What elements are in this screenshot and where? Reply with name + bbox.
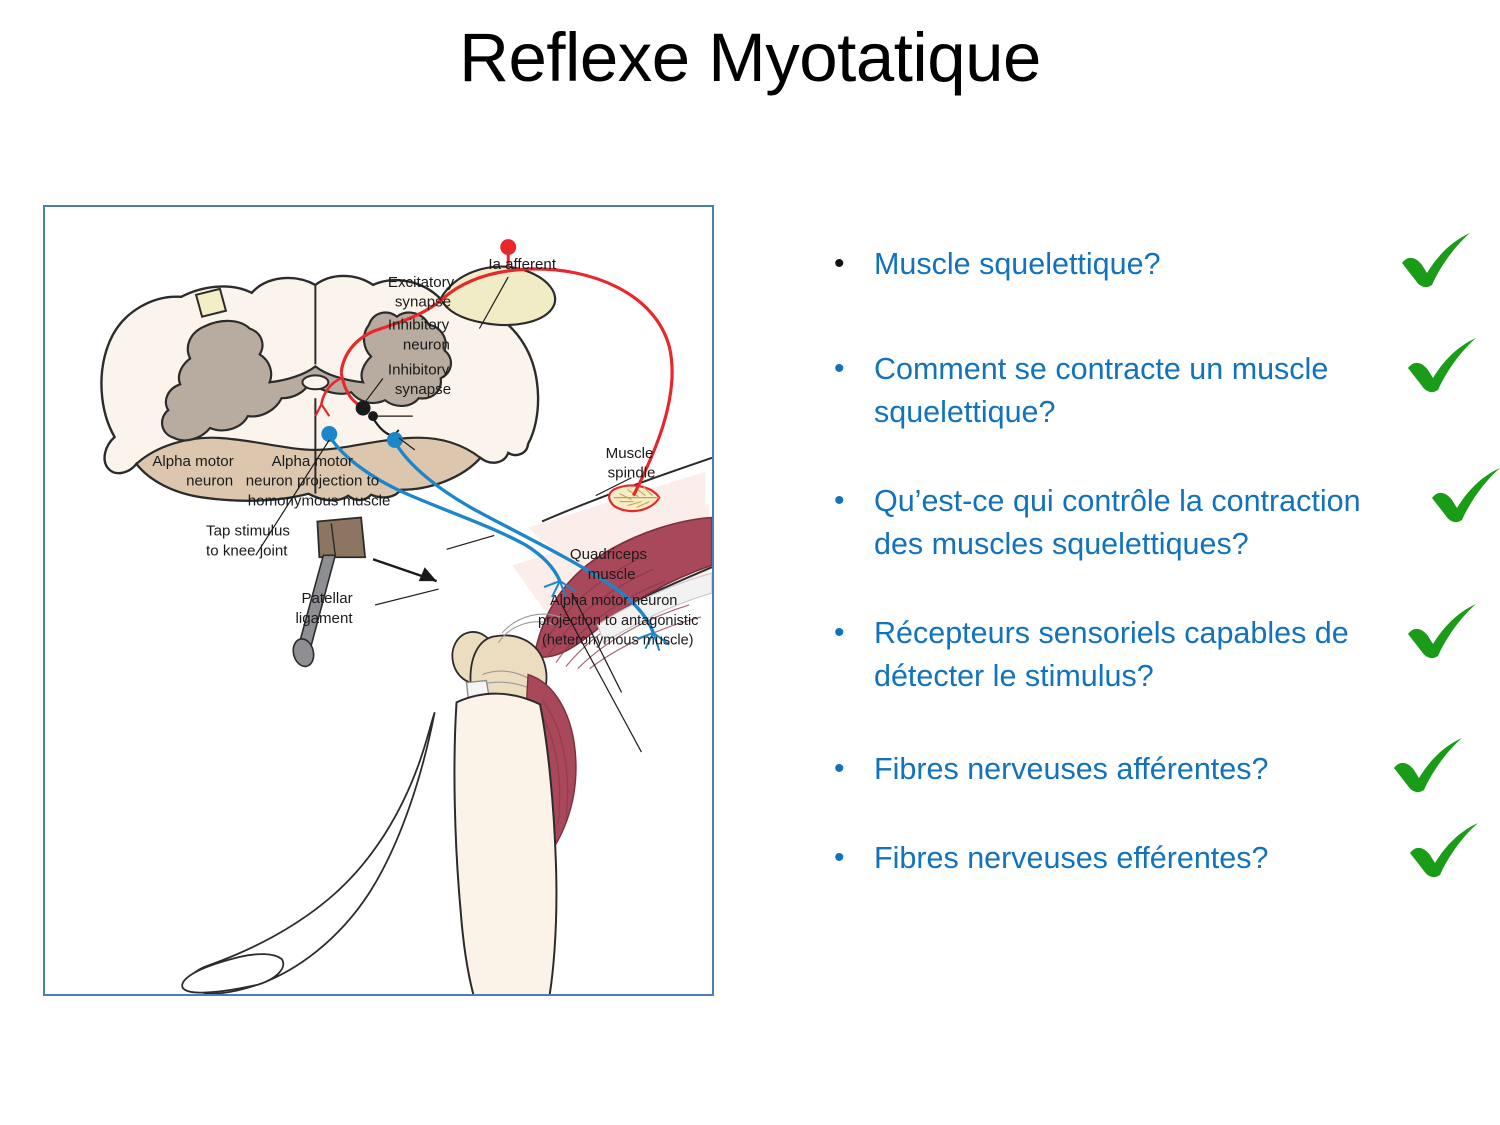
label-alpha-projection-homonymous-line3: homonymous muscle [248,493,391,510]
bullet-marker: • [822,837,874,879]
list-item-label: Qu’est-ce qui contrôle la contraction de… [874,480,1380,566]
leader-patellar-ligament [375,589,439,605]
dorsal-root-stub [196,289,226,317]
label-excitatory-synapse-line2: synapse [395,294,451,311]
label-excitatory-synapse-line1: Excitatory [388,274,455,291]
list-item[interactable]: • Fibres nerveuses efférentes? [822,837,1500,880]
list-item-label: Comment se contracte un muscle squeletti… [874,348,1380,434]
label-tap-stimulus-line1: Tap stimulus [206,522,290,539]
check-icon-svg [1394,231,1478,291]
alpha-motor-neuron-soma-homonymous [321,426,337,442]
bullet-marker: • [822,480,874,522]
bullet-marker: • [822,348,874,390]
leader-alpha-projection-homonymous [447,535,495,549]
list-item-label: Muscle squelettique? [874,243,1380,286]
reflex-diagram-panel: Ia afferent Excitatory synapse Inhibitor… [43,205,714,996]
label-patellar-ligament-line1: Patellar [301,590,352,607]
label-alpha-motor-neuron-line2: neuron [186,473,233,490]
hammer-head [317,517,365,557]
list-item[interactable]: • Muscle squelettique? [822,243,1500,286]
label-alpha-projection-antagonistic-line3: (heteronymous muscle) [542,633,694,649]
list-item[interactable]: • Fibres nerveuses afférentes? [822,748,1500,791]
ghost-foot-outline [182,954,283,993]
label-alpha-projection-homonymous-line2: neuron projection to [246,473,379,490]
label-tap-stimulus-line2: to knee joint [206,542,288,559]
alpha-motor-neuron-soma-antagonist [387,432,403,448]
tap-arrow-head [419,567,437,581]
reflex-diagram-svg: Ia afferent Excitatory synapse Inhibitor… [45,207,712,994]
check-icon [1424,466,1500,526]
central-canal [302,375,328,389]
check-icon [1400,602,1484,662]
label-muscle-spindle-line2: spindle [608,465,656,482]
label-quadriceps-line2: muscle [588,566,636,583]
ganglion-cell-body [500,239,516,255]
label-alpha-projection-antagonistic-line1: Alpha motor neuron [550,593,677,609]
question-checklist: • Muscle squelettique? • Comment se cont… [822,243,1500,880]
list-item-label: Fibres nerveuses afférentes? [874,748,1380,791]
check-icon-svg [1402,821,1486,881]
label-alpha-motor-neuron-line1: Alpha motor [152,453,233,470]
check-icon [1400,336,1484,396]
list-item-label: Récepteurs sensoriels capables de détect… [874,612,1380,698]
label-quadriceps-line1: Quadriceps [570,546,647,563]
check-icon [1386,736,1470,796]
check-icon-svg [1386,736,1470,796]
label-inhibitory-synapse-line1: Inhibitory [388,361,450,378]
label-inhibitory-neuron-line2: neuron [403,337,450,354]
list-item[interactable]: • Comment se contracte un muscle squelet… [822,348,1500,434]
list-item[interactable]: • Récepteurs sensoriels capables de déte… [822,612,1500,698]
bullet-marker: • [822,243,874,285]
check-icon [1402,821,1486,881]
list-item[interactable]: • Qu’est-ce qui contrôle la contraction … [822,480,1500,566]
lower-leg [454,694,556,994]
label-ia-afferent: Ia afferent [488,256,556,273]
label-inhibitory-neuron-line1: Inhibitory [388,317,450,334]
check-icon-svg [1424,466,1500,526]
excitatory-synapse-terminal [356,401,371,416]
label-alpha-projection-antagonistic-line2: projection to antagonistic [538,613,698,629]
ghost-leg-outline [189,712,435,993]
label-inhibitory-synapse-line2: synapse [395,381,451,398]
page-title: Reflexe Myotatique [0,18,1500,97]
label-alpha-projection-homonymous-line1: Alpha motor [272,453,353,470]
check-icon-svg [1400,336,1484,396]
label-muscle-spindle-line1: Muscle [606,445,654,462]
bullet-marker: • [822,748,874,790]
check-icon-svg [1400,602,1484,662]
label-patellar-ligament-line2: ligament [295,610,353,627]
list-item-label: Fibres nerveuses efférentes? [874,837,1380,880]
bullet-marker: • [822,612,874,654]
check-icon [1394,231,1478,291]
